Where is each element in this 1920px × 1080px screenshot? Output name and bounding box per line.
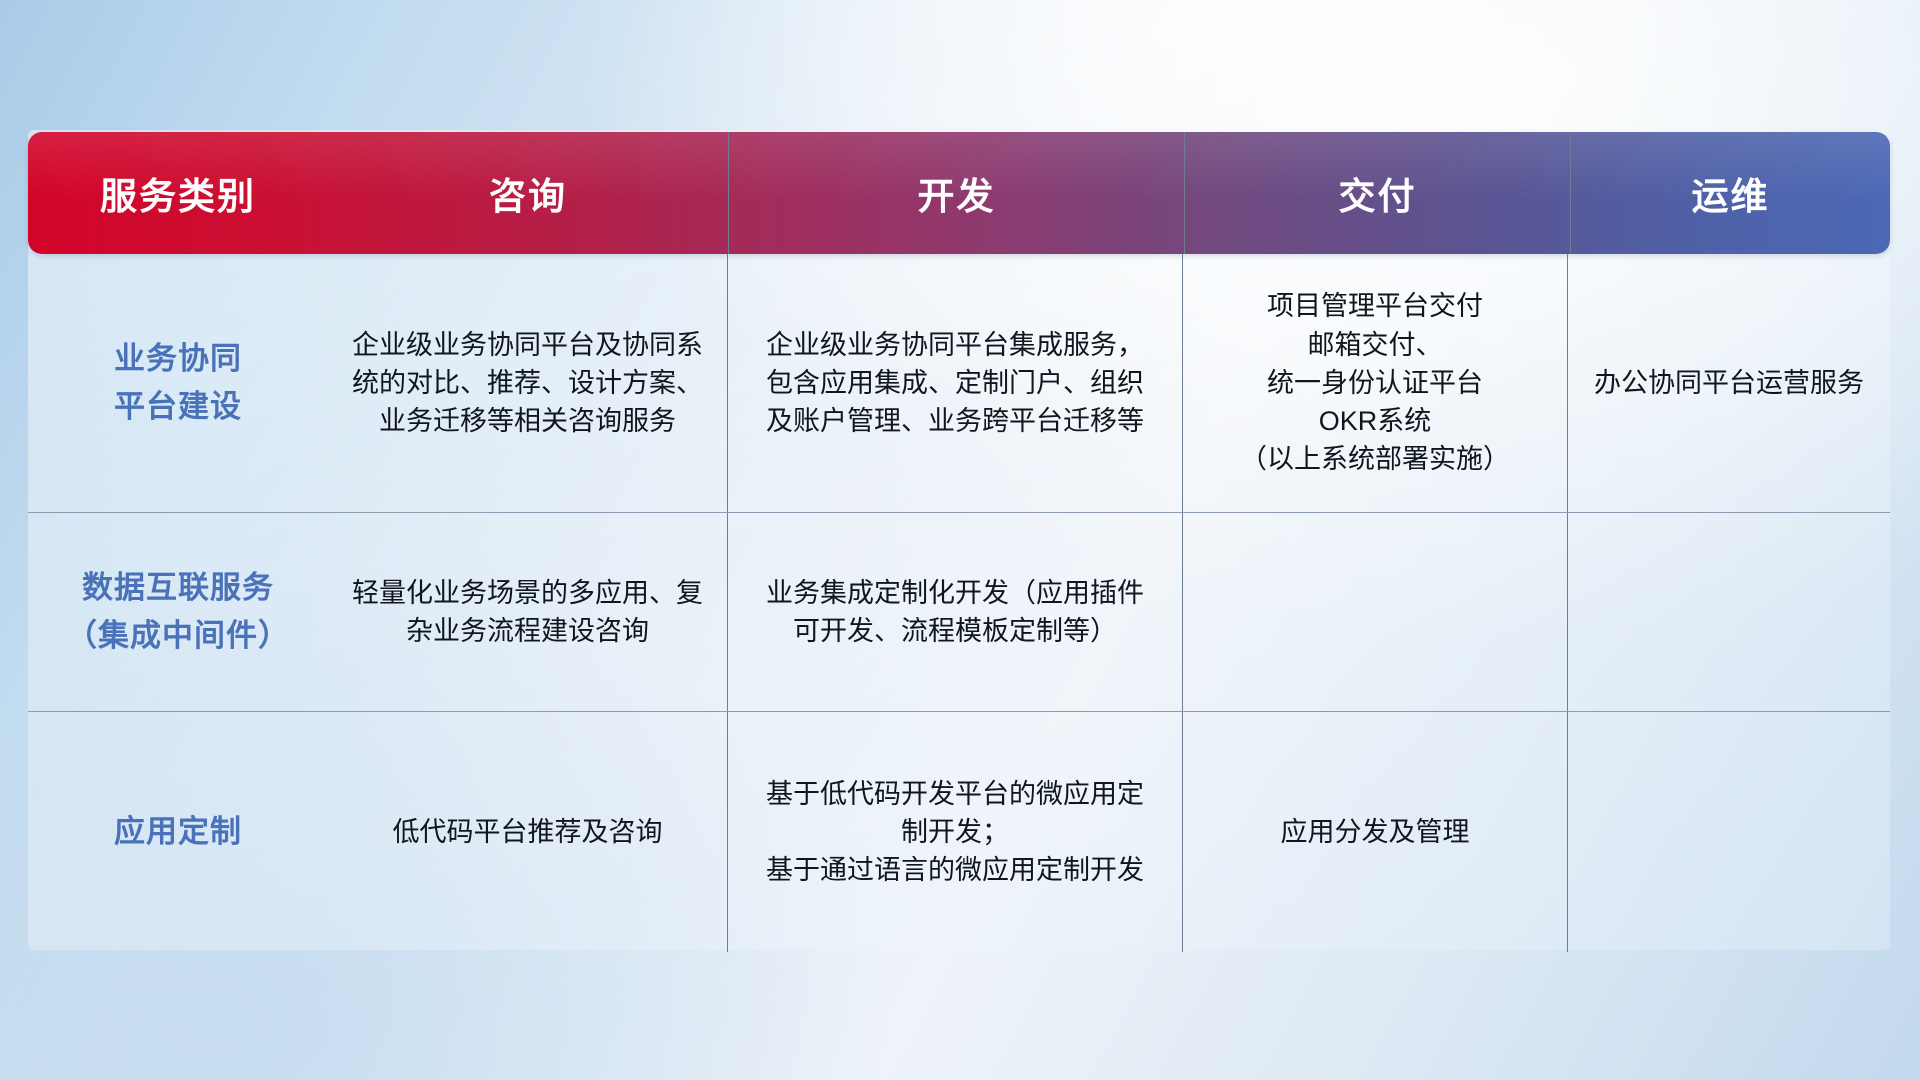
cell-operations: 办公协同平台运营服务: [1568, 254, 1890, 512]
table-body: 业务协同 平台建设 企业级业务协同平台及协同系 统的对比、推荐、设计方案、 业务…: [28, 254, 1890, 952]
column-header-category: 服务类别: [28, 132, 328, 254]
table-header-row: 服务类别 咨询 开发 交付 运维: [28, 132, 1890, 254]
row-category-label: 应用定制: [28, 712, 328, 952]
cell-consulting: 企业级业务协同平台及协同系 统的对比、推荐、设计方案、 业务迁移等相关咨询服务: [328, 254, 728, 512]
column-header-consulting: 咨询: [328, 132, 729, 254]
cell-development: 企业级业务协同平台集成服务， 包含应用集成、定制门户、组织 及账户管理、业务跨平…: [728, 254, 1183, 512]
cell-operations: [1568, 513, 1890, 711]
cell-delivery: 应用分发及管理: [1183, 712, 1568, 952]
cell-delivery: [1183, 513, 1568, 711]
row-category-label: 业务协同 平台建设: [28, 254, 328, 512]
table-row: 业务协同 平台建设 企业级业务协同平台及协同系 统的对比、推荐、设计方案、 业务…: [28, 254, 1890, 513]
cell-consulting: 低代码平台推荐及咨询: [328, 712, 728, 952]
table-row: 应用定制 低代码平台推荐及咨询 基于低代码开发平台的微应用定 制开发； 基于通过…: [28, 712, 1890, 952]
cell-delivery: 项目管理平台交付 邮箱交付、 统一身份认证平台 OKR系统 （以上系统部署实施）: [1183, 254, 1568, 512]
cell-consulting: 轻量化业务场景的多应用、复 杂业务流程建设咨询: [328, 513, 728, 711]
slide-page: 服务类别 咨询 开发 交付 运维 业务协同 平台建设 企业级业务协同平台及协同系…: [0, 0, 1920, 1080]
column-header-operations: 运维: [1571, 132, 1890, 254]
cell-operations: [1568, 712, 1890, 952]
service-matrix-table: 服务类别 咨询 开发 交付 运维 业务协同 平台建设 企业级业务协同平台及协同系…: [28, 132, 1890, 952]
cell-development: 业务集成定制化开发（应用插件 可开发、流程模板定制等）: [728, 513, 1183, 711]
column-header-delivery: 交付: [1185, 132, 1571, 254]
table-row: 数据互联服务 （集成中间件） 轻量化业务场景的多应用、复 杂业务流程建设咨询 业…: [28, 513, 1890, 712]
row-category-label: 数据互联服务 （集成中间件）: [28, 513, 328, 711]
column-header-development: 开发: [729, 132, 1185, 254]
cell-development: 基于低代码开发平台的微应用定 制开发； 基于通过语言的微应用定制开发: [728, 712, 1183, 952]
